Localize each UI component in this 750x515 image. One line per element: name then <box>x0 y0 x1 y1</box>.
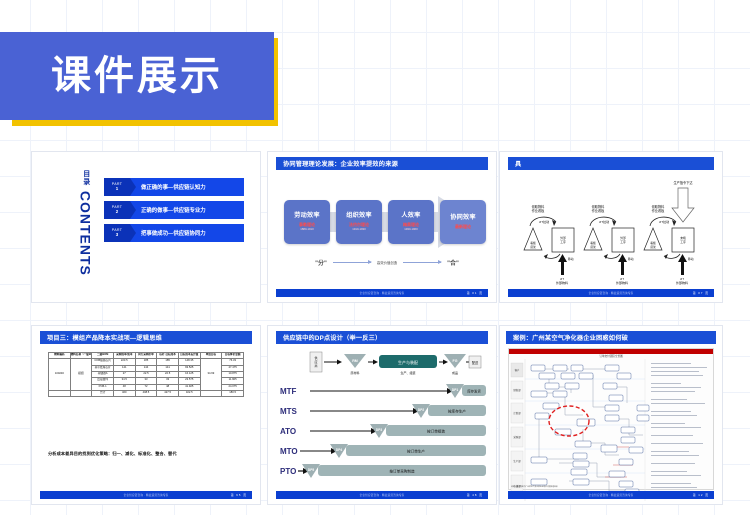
slide-footer: 企业供应链咨询 · 精益运营咨询专家 第 48 页 <box>276 491 488 499</box>
bottom-right-label: "合" <box>447 258 459 267</box>
card-title: 协同效率 <box>450 214 476 222</box>
card-years: 1910-1930 <box>352 228 365 231</box>
svg-text:按订单采购制造: 按订单采购制造 <box>389 469 415 474</box>
slide-footer: 企业供应链咨询 · 精益运营咨询专家 第 07 页 <box>508 289 714 297</box>
table-cell: 322.5 <box>178 390 200 396</box>
card-title: 劳动效率 <box>294 212 320 220</box>
table-cell <box>70 390 92 396</box>
slide-thumbnail-jit[interactable]: 具 <box>500 152 722 302</box>
table-cell: 100246 <box>49 359 71 391</box>
svg-text:工序: 工序 <box>620 240 626 244</box>
slide-header: 项目三：模组产品降本实战项—逻辑思维 <box>40 331 252 344</box>
svg-text:JIT拉动: JIT拉动 <box>539 219 549 224</box>
svg-text:采购部: 采购部 <box>513 435 521 439</box>
efficiency-card[interactable]: 人效率 梅奥理论 1930-1960 <box>388 200 434 244</box>
table-cell: 427.5 <box>157 390 179 396</box>
svg-text:移动: 移动 <box>628 257 634 261</box>
list-item-label: 做正确的事—供应链认知力 <box>136 183 206 191</box>
svg-text:外部物料: 外部物料 <box>556 280 568 285</box>
contents-vertical-title: 目录 CONTENTS <box>78 170 93 276</box>
svg-text:按订单组装: 按订单组装 <box>427 429 445 434</box>
svg-text:计划部: 计划部 <box>513 411 521 415</box>
part-badge: PART 2 <box>104 201 130 219</box>
slide-header: 案例：广州某空气净化器企业困惑如何破 <box>506 331 716 344</box>
card-years: 1880-1910 <box>300 228 313 231</box>
flowchart-footnote: 说明：该流程图为广州某空气净化器企业现状流程梳理结果 <box>511 485 558 488</box>
flowchart-canvas: 订单交付流程全景图 客户 销售部 计划部 采购部 生产部 仓储部 <box>508 348 714 490</box>
svg-text:DP5: DP5 <box>308 468 314 472</box>
footer-center-text: 企业供应链咨询 · 精益运营咨询专家 <box>360 493 405 497</box>
arrow-line-icon <box>403 262 441 263</box>
slide-thumbnail-synergy[interactable]: 协同管理理论发展：企业效率提效的来源 劳动效率 泰勒理论 1880-1910 组… <box>268 152 496 302</box>
card-title: 人效率 <box>401 212 420 220</box>
svg-text:DP2: DP2 <box>418 408 424 412</box>
slide-thumbnail-case-study[interactable]: 案例：广州某空气净化器企业困惑如何破 订单交付流程全景图 客户 销售部 计划部 … <box>500 326 722 504</box>
svg-text:按库存生产: 按库存生产 <box>448 409 466 414</box>
svg-text:移动: 移动 <box>568 257 574 261</box>
svg-text:销售部: 销售部 <box>513 388 521 392</box>
svg-text:MTO: MTO <box>280 447 298 456</box>
cost-table-wrap: 物料编码 物料名称（一级BOM） 二级BOM 采购成本/成本 同行采购价单 标杆… <box>48 352 244 397</box>
cost-table: 物料编码 物料名称（一级BOM） 二级BOM 采购成本/成本 同行采购价单 标杆… <box>48 352 244 397</box>
svg-text:客户: 客户 <box>515 368 520 372</box>
contents-title-cn: 目录 <box>83 170 90 186</box>
efficiency-boxes: 劳动效率 泰勒理论 1880-1910 组织效率 法约尔理论 1910-1930… <box>284 200 486 244</box>
footer-center-text: 企业供应链咨询 · 精益运营咨询专家 <box>589 291 634 295</box>
svg-text:配送: 配送 <box>472 360 479 365</box>
svg-text:MTS: MTS <box>280 407 298 416</box>
card-years: 1930-1960 <box>404 228 417 231</box>
contents-list: PART 1 做正确的事—供应链认知力 PART 2 正确的做事—供应链专业力 … <box>104 178 244 247</box>
svg-text:ATO: ATO <box>280 427 296 436</box>
bottom-left-label: "分" <box>315 258 327 267</box>
dp-diagram: 供 应 商 RM 原材料 生产与装配 生产、组装 FG 成品 配送 MTF <box>276 348 488 488</box>
bottom-caption: 高效价值创造 <box>377 260 397 265</box>
svg-text:货架: 货架 <box>650 245 656 249</box>
table-cell: 模组 <box>70 359 92 391</box>
arrow-line-icon <box>333 262 371 263</box>
svg-text:JIT拉动: JIT拉动 <box>659 219 669 224</box>
table-cell: 460 <box>113 390 135 396</box>
list-item[interactable]: PART 1 做正确的事—供应链认知力 <box>104 178 244 196</box>
svg-text:商: 商 <box>314 363 317 368</box>
slide-footer: 企业供应链咨询 · 精益运营咨询专家 第 65 页 <box>40 491 252 499</box>
contents-title-en: CONTENTS <box>78 191 94 276</box>
svg-text:外部物料: 外部物料 <box>616 280 628 285</box>
jit-diagram-svg: 领取物料 作业看板 JIT拉动 看板 货架 外部 工序 移动 JIT 外部物料 … <box>508 172 714 288</box>
svg-text:DP4: DP4 <box>336 448 342 452</box>
efficiency-card[interactable]: 组织效率 法约尔理论 1910-1930 <box>336 200 382 244</box>
table-cell: 408.5 <box>135 390 157 396</box>
svg-text:FG: FG <box>453 359 458 363</box>
svg-text:成品: 成品 <box>452 370 458 375</box>
svg-text:RM: RM <box>352 359 358 363</box>
svg-text:移动: 移动 <box>688 257 694 261</box>
footer-page-number: 第 48 页 <box>467 493 483 497</box>
part-number: 3 <box>116 233 118 238</box>
footer-center-text: 企业供应链咨询 · 精益运营咨询专家 <box>124 493 169 497</box>
title-banner: 课件展示 <box>0 32 278 126</box>
svg-text:库存发货: 库存发货 <box>467 389 481 394</box>
jit-diagram: 领取物料 作业看板 JIT拉动 看板 货架 外部 工序 移动 JIT 外部物料 … <box>508 172 714 288</box>
footer-page-number: 第 65 页 <box>231 493 247 497</box>
svg-text:按订单生产: 按订单生产 <box>407 449 425 454</box>
footer-page-number: 第 01 页 <box>467 291 483 295</box>
svg-text:作业看板: 作业看板 <box>532 208 546 213</box>
flowchart-svg: 客户 销售部 计划部 采购部 生产部 仓储部 <box>509 359 715 501</box>
card-subtitle: 最新理论 <box>455 224 471 229</box>
footer-center-text: 企业供应链咨询 · 精益运营咨询专家 <box>589 493 634 497</box>
svg-text:生产与装配: 生产与装配 <box>398 359 418 365</box>
svg-text:货架: 货架 <box>590 245 596 249</box>
part-number: 1 <box>116 187 118 192</box>
svg-text:JIT拉动: JIT拉动 <box>599 219 609 224</box>
slide-header: 具 <box>508 157 714 170</box>
slide-footer: 企业供应链咨询 · 精益运营咨询专家 第 12 页 <box>508 491 714 499</box>
table-cell: 34.69 <box>200 359 222 391</box>
banner-box: 课件展示 <box>0 32 274 120</box>
efficiency-card[interactable]: 协同效率 最新理论 <box>440 200 486 244</box>
svg-text:原材料: 原材料 <box>350 370 359 375</box>
table-cell: 合计 <box>92 390 114 396</box>
dp-diagram-svg: 供 应 商 RM 原材料 生产与装配 生产、组装 FG 成品 配送 MTF <box>276 348 488 480</box>
slide-thumbnail-contents[interactable]: 目录 CONTENTS PART 1 做正确的事—供应链认知力 PART 2 正… <box>32 152 260 302</box>
footer-center-text: 企业供应链咨询 · 精益运营咨询专家 <box>360 291 405 295</box>
svg-text:PTO: PTO <box>280 467 296 476</box>
svg-text:作业看板: 作业看板 <box>652 208 666 213</box>
list-item-label: 把事做成功—供应链协同力 <box>136 229 206 237</box>
table-cell <box>200 390 222 396</box>
svg-text:DP1: DP1 <box>452 388 458 392</box>
part-number: 2 <box>116 210 118 215</box>
part-badge: PART 1 <box>104 178 130 196</box>
list-item-label: 正确的做事—供应链专业力 <box>136 206 206 214</box>
slide-header: 供应链中的DP点设计（举一反三） <box>276 331 488 344</box>
svg-text:生产指令下达: 生产指令下达 <box>673 180 693 185</box>
table-note: 分析成本差异目的找到优化策略：归一、减化、标准化、整合、替代 <box>48 451 177 457</box>
table-cell: 180.5 <box>222 390 244 396</box>
slide-thumbnail-dp-design[interactable]: 供应链中的DP点设计（举一反三） 供 应 商 RM 原材料 生产与装配 生产、组… <box>268 326 496 504</box>
card-title: 组织效率 <box>346 212 372 220</box>
table-row-total: 合计 460 408.5 427.5 322.5 180.5 <box>49 390 244 396</box>
svg-text:作业看板: 作业看板 <box>592 208 606 213</box>
svg-text:MTF: MTF <box>280 387 297 396</box>
table-cell <box>49 390 71 396</box>
svg-text:DP3: DP3 <box>376 428 382 432</box>
svg-text:外部物料: 外部物料 <box>676 280 688 285</box>
svg-text:生产、组装: 生产、组装 <box>400 370 415 375</box>
page-title: 课件展示 <box>51 56 223 96</box>
synergy-bottom-row: "分" 高效价值创造 "合" <box>298 258 476 267</box>
svg-text:生产部: 生产部 <box>513 459 521 463</box>
slide-footer: 企业供应链咨询 · 精益运营咨询专家 第 01 页 <box>276 289 488 297</box>
svg-text:工序: 工序 <box>680 240 686 244</box>
footer-page-number: 第 12 页 <box>693 493 709 497</box>
svg-text:货架: 货架 <box>530 245 536 249</box>
list-item[interactable]: PART 2 正确的做事—供应链专业力 <box>104 201 244 219</box>
svg-text:工序: 工序 <box>560 240 566 244</box>
slide-thumbnail-cost-table[interactable]: 项目三：模组产品降本实战项—逻辑思维 物料编码 物料名称（一级BOM） 二级BO… <box>32 326 260 504</box>
list-item[interactable]: PART 3 把事做成功—供应链协同力 <box>104 224 244 242</box>
efficiency-card[interactable]: 劳动效率 泰勒理论 1880-1910 <box>284 200 330 244</box>
slide-header: 协同管理理论发展：企业效率提效的来源 <box>276 157 488 170</box>
footer-page-number: 第 07 页 <box>693 291 709 295</box>
part-badge: PART 3 <box>104 224 130 242</box>
